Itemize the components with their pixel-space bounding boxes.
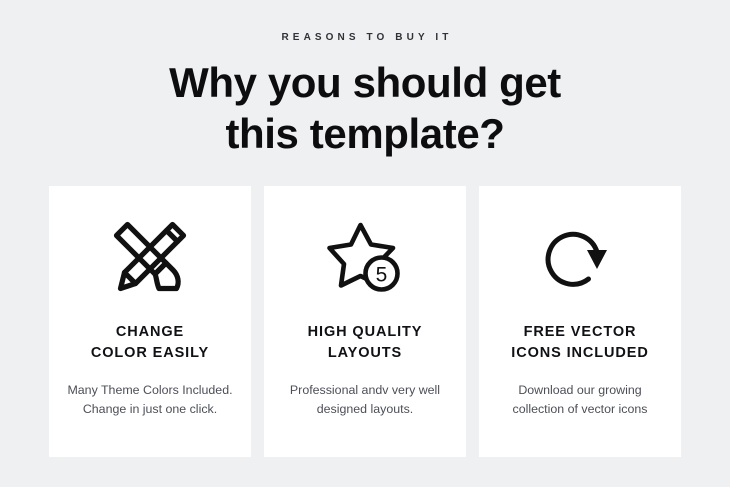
feature-card[interactable]: CHANGE COLOR EASILY Many Theme Colors In… — [49, 186, 251, 457]
eyebrow-label: REASONS TO BUY IT — [0, 33, 730, 43]
feature-card-body: Download our growing collection of vecto… — [493, 363, 667, 419]
svg-text:5: 5 — [376, 264, 388, 287]
feature-card[interactable]: FREE VECTOR ICONS INCLUDED Download our … — [479, 186, 681, 457]
feature-card-title: FREE VECTOR ICONS INCLUDED — [511, 300, 648, 363]
feature-card-body: Professional andv very well designed lay… — [278, 363, 452, 419]
pencil-brush-cross-icon — [111, 214, 189, 300]
landing-section: REASONS TO BUY IT Why you should get thi… — [0, 0, 730, 487]
feature-card[interactable]: 5 HIGH QUALITY LAYOUTS Professional andv… — [264, 186, 466, 457]
page-title: Why you should get this template? — [130, 43, 600, 159]
feature-card-title: HIGH QUALITY LAYOUTS — [308, 300, 423, 363]
star-rating-five-icon: 5 — [327, 214, 403, 300]
circular-refresh-arrow-icon — [543, 214, 617, 300]
feature-card-title: CHANGE COLOR EASILY — [91, 300, 209, 363]
section-header: REASONS TO BUY IT Why you should get thi… — [0, 0, 730, 159]
feature-card-body: Many Theme Colors Included. Change in ju… — [63, 363, 237, 419]
feature-card-list: CHANGE COLOR EASILY Many Theme Colors In… — [49, 186, 682, 457]
